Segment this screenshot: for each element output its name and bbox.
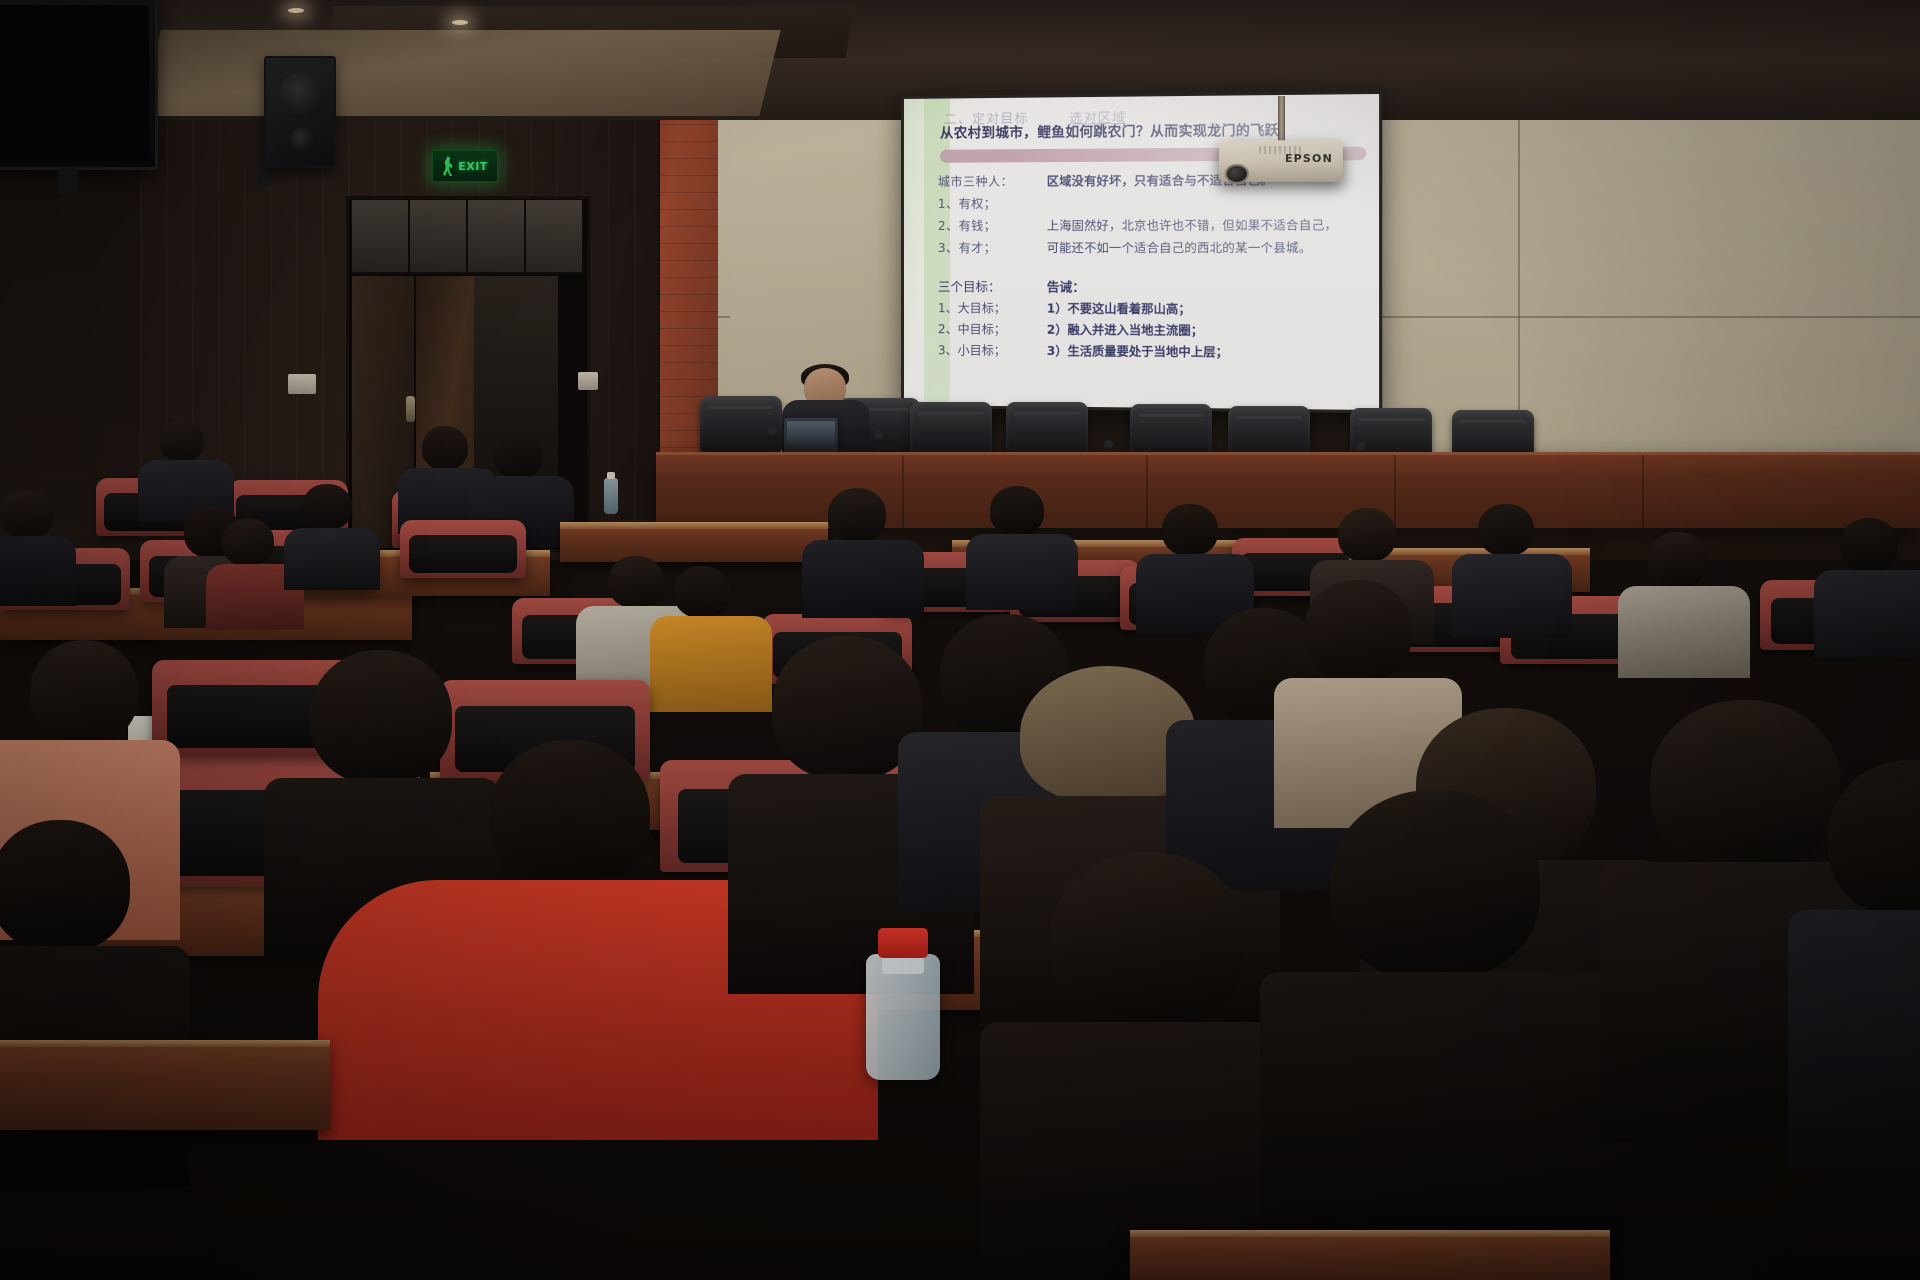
- lecture-hall-photo: EXIT 二、定对目标 选对区域 从农村到城市，鲤鱼如何跳农门？从而实现龙门的飞…: [0, 0, 1920, 1280]
- student-desk: [1130, 1230, 1610, 1280]
- microphone-head-icon: [1356, 442, 1365, 451]
- light-switch[interactable]: [288, 374, 316, 394]
- bottle-cap: [607, 472, 615, 479]
- presidium-chair: [700, 396, 782, 452]
- advice-text-1: 1）不要这山看着那山高；: [1047, 299, 1191, 317]
- door-transom-window: [352, 200, 584, 274]
- microphone-head-icon: [768, 426, 777, 435]
- three-types-item-1: 1、有权；: [938, 194, 1047, 211]
- water-bottle: [866, 954, 940, 1080]
- speaker-cone-icon: [279, 72, 325, 118]
- slide-item-row: 2、有钱； 上海固然好，北京也许也不错，但如果不适合自己，: [938, 216, 1366, 234]
- three-types-item-2: 2、有钱；: [938, 217, 1047, 234]
- student-desk: [560, 522, 828, 562]
- goal-row: 3、小目标； 3）生活质量要处于当地中上层；: [938, 341, 1366, 361]
- presidium-chair: [1006, 402, 1088, 458]
- projector-lens-icon: [1225, 164, 1249, 184]
- advice-label: 告诫：: [1047, 276, 1085, 295]
- wall-outlet[interactable]: [578, 372, 598, 390]
- goal-label-2: 2、中目标；: [938, 320, 1047, 338]
- bottle-cap: [878, 928, 928, 958]
- bottle-neck: [882, 956, 924, 974]
- projector-mount-rod: [1278, 96, 1285, 142]
- ceiling-light: [452, 20, 468, 25]
- wall-monitor: [0, 0, 158, 170]
- student-desk: [0, 1040, 330, 1130]
- projection-screen: 二、定对目标 选对区域 从农村到城市，鲤鱼如何跳农门？从而实现龙门的飞跃 城市三…: [901, 91, 1382, 413]
- goal-label-3: 3、小目标；: [938, 341, 1047, 359]
- ceiling-cove-light: [139, 30, 780, 116]
- slide-highlight-text: 从农村到城市，鲤鱼如何跳农门？从而实现龙门的飞跃: [940, 119, 1279, 142]
- auditorium-seat: [400, 520, 526, 578]
- projector-brand-label: EPSON: [1285, 152, 1333, 165]
- slide-item-row: 1、有权；: [938, 193, 1366, 212]
- monitor-screen: [0, 5, 149, 161]
- advice-text-2: 2）融入并进入当地主流圈；: [1047, 321, 1203, 339]
- water-bottle-small: [604, 478, 618, 514]
- ceiling-speaker: [264, 56, 336, 168]
- slide-note-line-2: 可能还不如一个适合自己的西北的某一个县城。: [1047, 239, 1367, 257]
- microphone-head-icon: [1104, 440, 1113, 449]
- running-man-icon: [442, 156, 455, 176]
- goal-label-1: 1、大目标；: [938, 299, 1047, 317]
- slide-item-row: 3、有才； 可能还不如一个适合自己的西北的某一个县城。: [938, 239, 1366, 257]
- emergency-exit-sign: EXIT: [432, 150, 498, 182]
- three-types-label: 城市三种人：: [938, 172, 1047, 190]
- exit-sign-label: EXIT: [458, 160, 488, 173]
- slide-note-line-1: 上海固然好，北京也许也不错，但如果不适合自己，: [1047, 216, 1367, 234]
- laptop-screen: [787, 421, 835, 444]
- advice-text-3: 3）生活质量要处于当地中上层；: [1047, 342, 1228, 360]
- presidium-chair: [910, 402, 992, 458]
- three-types-item-3: 3、有才；: [938, 239, 1047, 256]
- goal-row: 2、中目标； 2）融入并进入当地主流圈；: [938, 320, 1366, 340]
- ceiling-light: [288, 8, 304, 13]
- goal-row: 1、大目标； 1）不要这山看着那山高；: [938, 299, 1366, 318]
- door-handle[interactable]: [406, 396, 415, 422]
- monitor-mount: [58, 168, 78, 194]
- microphone-head-icon: [874, 430, 883, 439]
- speaker-tweeter-icon: [290, 128, 314, 152]
- ceiling-projector: EPSON: [1219, 140, 1344, 182]
- slide-goals-header: 三个目标： 告诫：: [938, 276, 1366, 296]
- goals-label: 三个目标：: [938, 276, 1047, 295]
